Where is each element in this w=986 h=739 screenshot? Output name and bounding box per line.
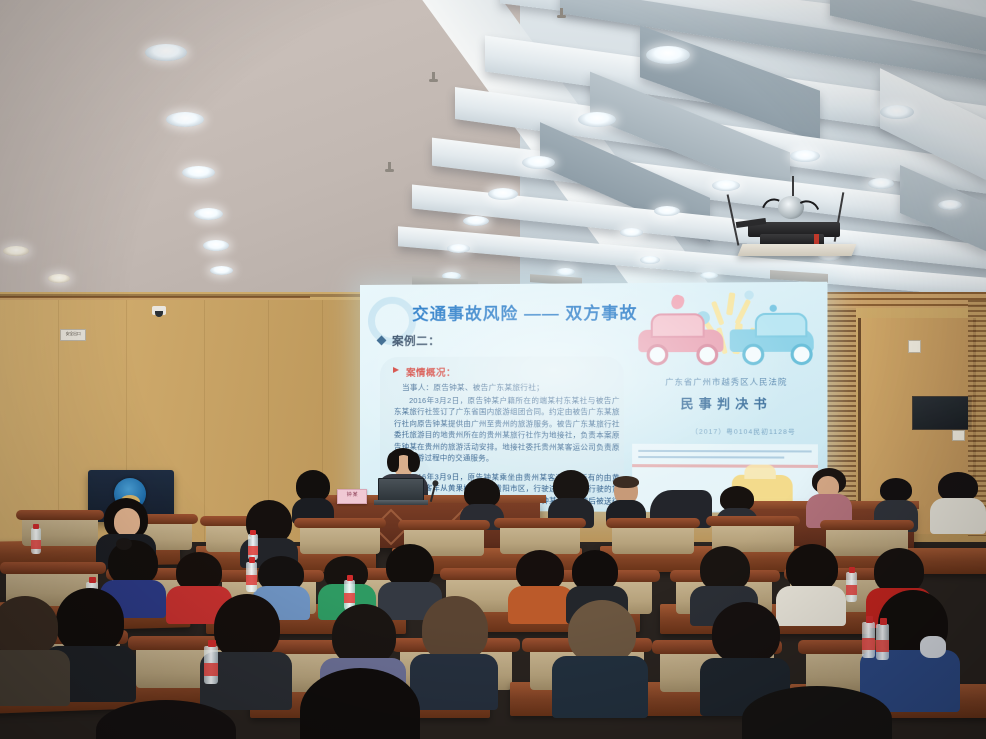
seat-frame xyxy=(0,562,106,574)
downlight xyxy=(203,240,229,251)
document-type: 民事判决书 xyxy=(640,393,812,413)
name-placard: 钟 某 xyxy=(337,489,367,504)
downlight xyxy=(48,274,70,283)
downlight xyxy=(463,216,489,226)
sprinkler-head xyxy=(560,8,563,17)
light-switch xyxy=(952,430,965,441)
downlight xyxy=(868,178,894,189)
wall-display-panel xyxy=(912,396,972,430)
case-summary-heading: 案情概况： xyxy=(406,365,456,379)
downlight xyxy=(880,105,914,119)
downlight xyxy=(578,112,616,127)
water-bottle xyxy=(846,572,857,602)
seat-frame xyxy=(820,520,914,530)
sprinkler-head xyxy=(432,72,435,81)
downlight xyxy=(556,268,575,276)
downlight xyxy=(938,200,962,210)
exit-sign-label: 安全出口 xyxy=(61,330,85,336)
attendee-foreground xyxy=(0,596,70,702)
attendee-foreground xyxy=(410,596,498,708)
confetti-shape xyxy=(770,305,777,312)
attendee-nearest xyxy=(300,668,420,739)
car-right xyxy=(728,313,818,361)
ceiling-projector xyxy=(718,190,868,270)
water-bottle xyxy=(31,528,41,554)
case-number: （2017）粤0104民初1128号 xyxy=(665,426,822,437)
water-bottle xyxy=(204,646,218,684)
exit-sign: 安全出口 xyxy=(60,329,86,341)
projector-indicator xyxy=(814,234,819,244)
downlight xyxy=(166,112,204,127)
slide-case-label: 案例二： xyxy=(392,333,440,349)
sprinkler-head xyxy=(388,162,391,171)
arrow-bullet-icon xyxy=(393,367,399,373)
downlight xyxy=(182,166,215,179)
seat-frame xyxy=(606,518,700,528)
downlight xyxy=(194,208,223,220)
attendee-nearest xyxy=(742,686,892,739)
downlight xyxy=(522,156,555,169)
downlight xyxy=(488,188,518,200)
name-placard-label: 钟 某 xyxy=(338,490,366,498)
attendee xyxy=(806,468,852,528)
downlight xyxy=(700,272,718,279)
downlight xyxy=(654,206,680,216)
attendee xyxy=(292,470,334,522)
car-left xyxy=(638,313,727,360)
slide-title: 交通事故风险 —— 双方事故 xyxy=(412,299,637,324)
downlight xyxy=(640,256,660,264)
seat-frame xyxy=(398,520,490,530)
security-camera-icon xyxy=(152,306,166,315)
light-switch xyxy=(908,340,921,353)
seat-back xyxy=(300,524,380,554)
confetti-shape xyxy=(669,293,685,310)
attendee xyxy=(930,472,986,534)
attendee-nearest xyxy=(96,700,236,739)
downlight xyxy=(620,228,643,237)
attendee-foreground xyxy=(552,600,648,716)
seat-frame xyxy=(294,518,386,528)
projector-mount-plate xyxy=(738,244,857,256)
seat-frame xyxy=(494,518,586,528)
projector-rod xyxy=(792,176,794,196)
downlight xyxy=(210,266,233,275)
downlight xyxy=(145,44,187,61)
downlight xyxy=(447,244,470,253)
projector-rod xyxy=(727,194,740,245)
water-bottle xyxy=(876,624,889,660)
downlight xyxy=(646,46,690,64)
downlight xyxy=(790,150,820,162)
court-name: 广东省广州市越秀区人民法院 xyxy=(640,376,812,387)
laptop-base xyxy=(374,500,428,505)
water-bottle xyxy=(246,562,257,592)
seat-frame xyxy=(16,510,104,520)
downlight xyxy=(3,246,29,256)
collision-illustration xyxy=(632,290,815,364)
ceiling xyxy=(0,0,986,300)
conference-room-photo: 安全出口 交通事故风险 —— 双方事故 案例二： xyxy=(0,0,986,739)
seat-frame xyxy=(706,516,800,526)
water-bottle xyxy=(862,622,875,658)
case-parties: 当事人：原告钟某、被告广东某旅行社； xyxy=(402,382,544,393)
wall-slat-band xyxy=(812,292,986,308)
confetti-shape xyxy=(744,290,753,299)
